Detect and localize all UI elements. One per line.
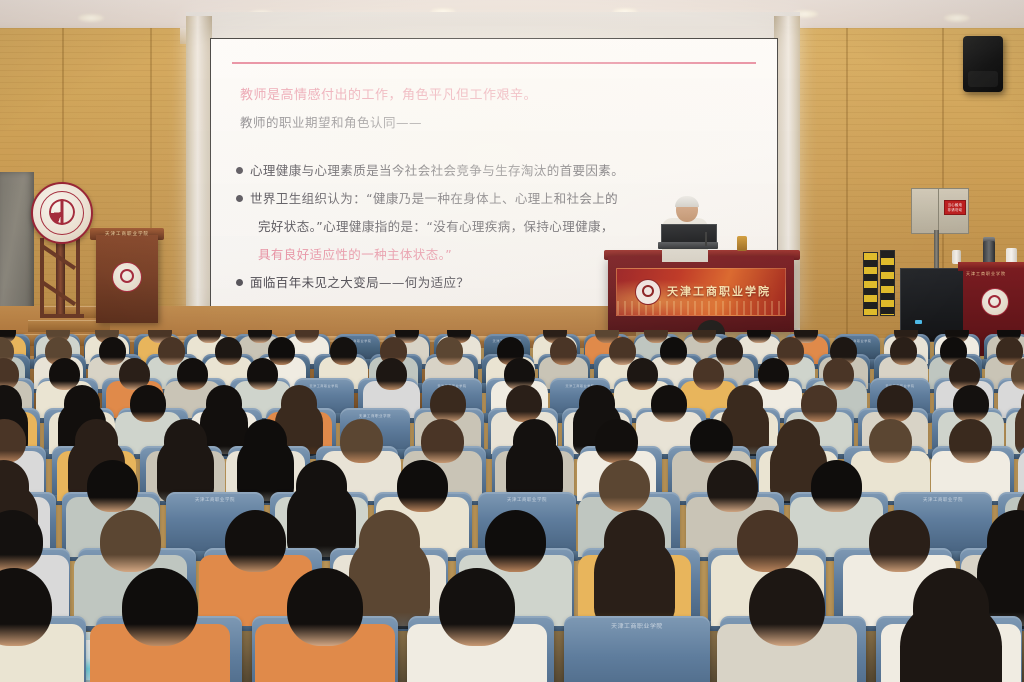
audience-member-head bbox=[287, 568, 363, 646]
audience-member-head bbox=[158, 337, 185, 365]
audience-member-head bbox=[506, 385, 542, 422]
audience-member-head bbox=[716, 337, 743, 365]
cable-ramp-icon bbox=[863, 252, 878, 316]
lecture-hall-photo: 教师是高情感付出的工作，角色平凡但工作艰辛。 教师的职业期望和角色认同—— 心理… bbox=[0, 0, 1024, 682]
lectern-nameplate: 天津工商职业学院 bbox=[96, 230, 158, 238]
bullet-dot-icon bbox=[236, 279, 243, 286]
audience-member-head bbox=[130, 385, 166, 422]
audience-member-head bbox=[225, 510, 286, 572]
slide-bullet-3-line-1: 面临百年未见之大变局——何为适应？ bbox=[236, 272, 469, 291]
warning-line-2: 非请勿动 bbox=[945, 207, 965, 213]
chair-back-text: 天津工商职业学院 bbox=[894, 497, 992, 503]
podium-banner-text: 天津工商职业学院 bbox=[667, 283, 771, 299]
audience-member-head bbox=[595, 419, 638, 463]
emblem-stand-frame bbox=[40, 238, 82, 318]
audience-member-head bbox=[87, 460, 138, 512]
slide-subheading: 教师的职业期望和角色认同—— bbox=[240, 112, 422, 131]
audience-seating: 天津工商职业学院天津工商职业学院天津工商职业学院天津工商职业学院天津工商职业学院… bbox=[0, 330, 1024, 682]
audience-member-head bbox=[758, 358, 789, 390]
audience-member-head bbox=[436, 337, 463, 365]
audience-member-head bbox=[122, 568, 198, 646]
audience-member-head bbox=[439, 568, 515, 646]
slide-bullet-2-line-1: 世界卫生组织认为：“健康乃是一种在身体上、心理上和社会上的 bbox=[236, 188, 618, 207]
slide-bullet-2-line-2: 完好状态。”心理健康指的是：“没有心理疾病，保持心理健康， bbox=[258, 216, 614, 235]
audience-member-head bbox=[99, 337, 126, 365]
slide-bullet-2-line-3: 具有良好适应性的一种主体状态。” bbox=[258, 244, 452, 263]
audience-member-head bbox=[340, 419, 383, 463]
audience-member-head bbox=[651, 385, 687, 422]
audience-member-head bbox=[749, 568, 825, 646]
cable-ramp-icon bbox=[880, 250, 895, 316]
audience-member-head bbox=[397, 460, 448, 512]
bullet-dot-icon bbox=[236, 167, 243, 174]
audience-member-head bbox=[869, 419, 912, 463]
proscenium-left-pillar bbox=[186, 16, 212, 328]
audience-member-head bbox=[890, 337, 917, 365]
audience-member-head bbox=[550, 337, 577, 365]
microphone-icon bbox=[705, 232, 707, 246]
chair-back-text: 天津工商职业学院 bbox=[478, 497, 576, 503]
audience-member-head bbox=[627, 358, 658, 390]
right-console-crest-icon bbox=[981, 288, 1009, 316]
audience-member-head bbox=[485, 510, 546, 572]
audience-chair: 天津工商职业学院 bbox=[564, 616, 710, 682]
audience-member-head bbox=[247, 358, 278, 390]
school-crest-icon bbox=[31, 182, 93, 244]
audience-member-hair bbox=[900, 601, 1002, 682]
presenter-laptop-base bbox=[658, 242, 718, 249]
amber-cup bbox=[737, 236, 747, 251]
chair-back-text: 天津工商职业学院 bbox=[166, 497, 264, 503]
slide-bullet-1-line-1: 心理健康与心理素质是当今社会社会竞争与生存淘汰的首要因素。 bbox=[236, 160, 624, 179]
audience-member-head bbox=[330, 337, 357, 365]
podium-banner: 天津工商职业学院 bbox=[616, 268, 786, 316]
audience-member-head bbox=[707, 460, 758, 512]
audience-member-head bbox=[376, 358, 407, 390]
audience-member-head bbox=[801, 385, 837, 422]
audience-member-head bbox=[430, 385, 466, 422]
audience-member-head bbox=[877, 385, 913, 422]
lectern-crest-icon bbox=[112, 262, 142, 292]
audience-member-head bbox=[869, 510, 930, 572]
audience-member-head bbox=[811, 460, 862, 512]
wall-speaker-icon bbox=[963, 36, 1003, 92]
audience-member-head bbox=[660, 337, 687, 365]
bullet-dot-icon bbox=[236, 195, 243, 202]
audience-member-head bbox=[737, 510, 798, 572]
audience-member-head bbox=[823, 358, 854, 390]
audience-member-head bbox=[953, 385, 989, 422]
audience-member-head bbox=[421, 419, 464, 463]
audience-member-head bbox=[177, 358, 208, 390]
audience-member-head bbox=[599, 460, 650, 512]
audience-member-head bbox=[100, 510, 161, 572]
audience-member-head bbox=[215, 337, 242, 365]
electrical-warning-sign: 当心触电 非请勿动 bbox=[944, 200, 966, 215]
cabinet-led-indicator bbox=[915, 320, 922, 324]
warning-line-1: 当心触电 bbox=[945, 201, 965, 207]
right-console-label: 天津工商职业学院 bbox=[966, 270, 1022, 277]
chair-back-text: 天津工商职业学院 bbox=[564, 621, 710, 630]
slide-heading: 教师是高情感付出的工作，角色平凡但工作艰辛。 bbox=[240, 84, 537, 103]
audience-member-head bbox=[949, 419, 992, 463]
chair-back-text: 天津工商职业学院 bbox=[340, 413, 410, 418]
audience-member-head bbox=[693, 358, 724, 390]
slide-divider-rule bbox=[232, 62, 756, 64]
podium-crest-icon bbox=[635, 279, 661, 305]
audience-member-head bbox=[690, 419, 733, 463]
